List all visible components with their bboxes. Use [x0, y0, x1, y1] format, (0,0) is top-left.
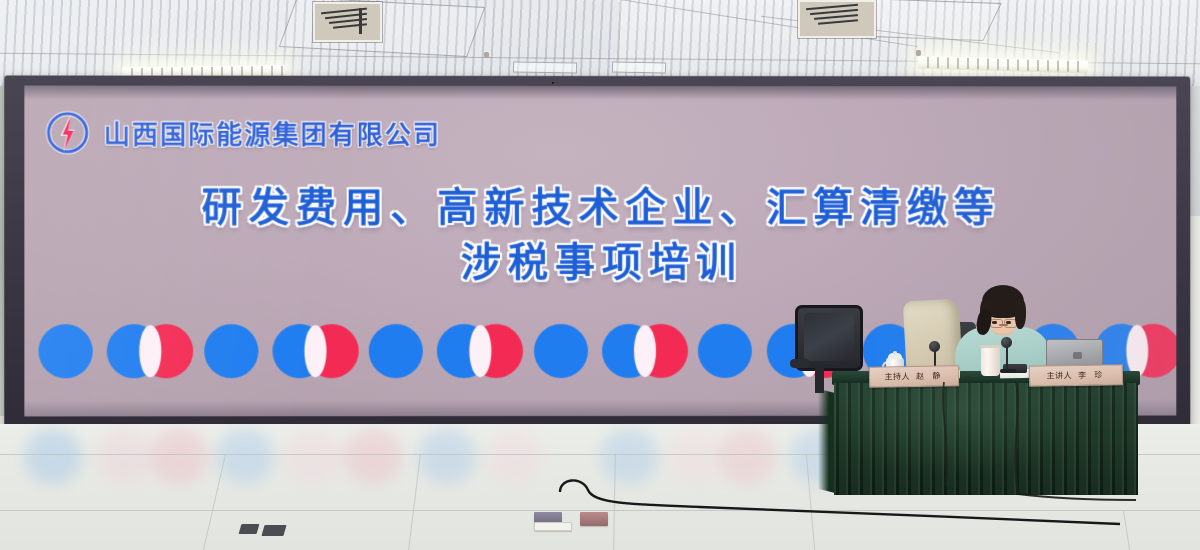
nameplate-name: 李 珍 [1078, 369, 1105, 380]
nameplate-role: 主持人 [885, 371, 911, 382]
laptop-logo [1073, 352, 1082, 359]
chair-armrest [790, 359, 810, 368]
conference-room-photo: 山西国际能源集团有限公司 研发费用、高新技术企业、汇算清缴等 涉税事项培训 [0, 0, 1200, 550]
chair-mesh [804, 313, 854, 361]
stage-area: 主持人 赵 静 主讲人 李 珍 [0, 0, 1200, 550]
person-hair-side [1015, 299, 1026, 329]
teapot-knob [893, 351, 897, 355]
person-mouth [999, 324, 1008, 326]
nameplate-role: 主讲人 [1047, 370, 1073, 381]
paper-coffee-cup [981, 348, 1000, 376]
table-cables [930, 382, 1150, 502]
nameplate-name: 赵 静 [916, 370, 943, 381]
desk-microphone[interactable] [1000, 337, 1016, 373]
